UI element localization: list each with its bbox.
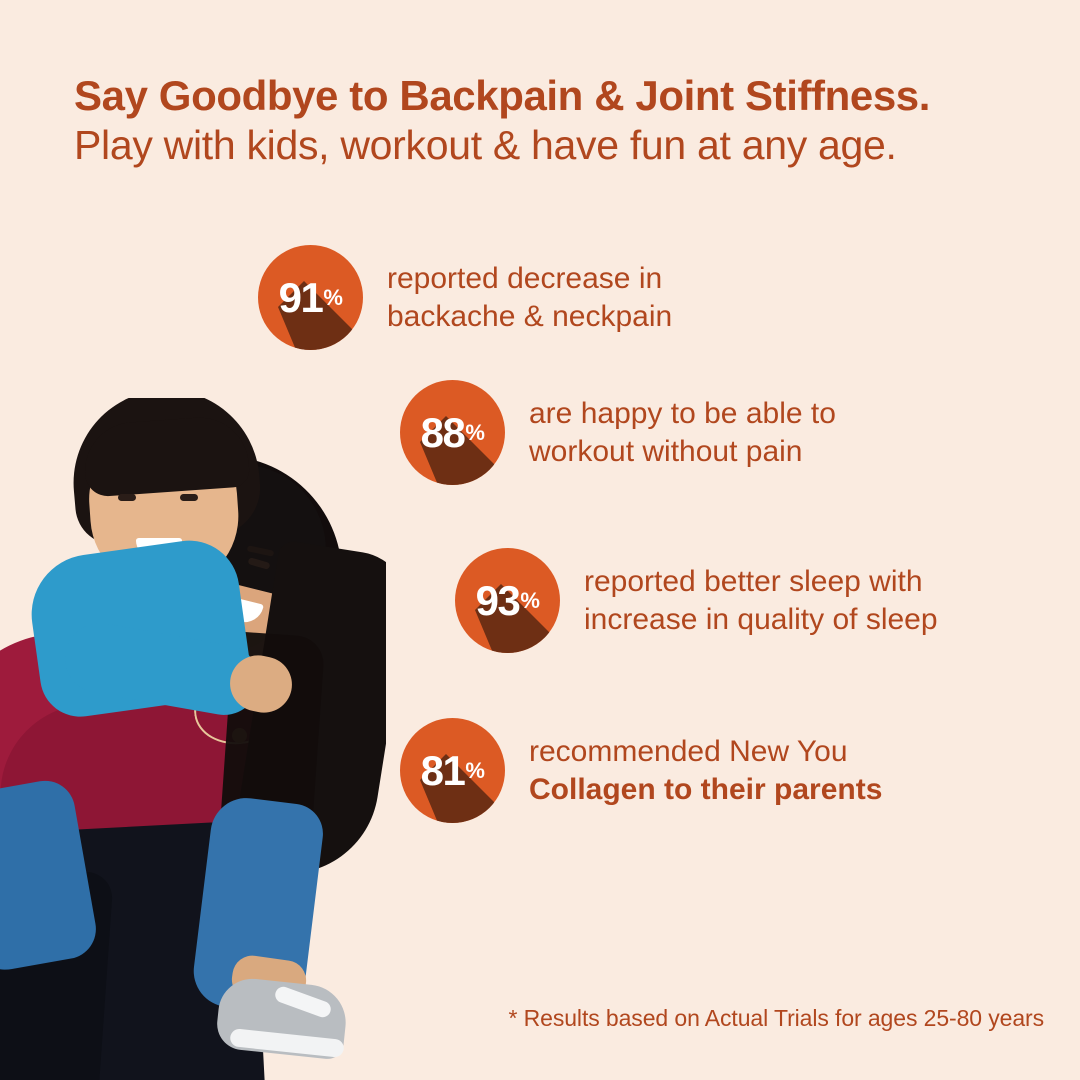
child-eye-right bbox=[180, 494, 198, 501]
stat-text-1: reported decrease in backache & neckpain bbox=[387, 260, 672, 334]
stat-value-2: 88% bbox=[400, 380, 505, 485]
headline-line-2: Play with kids, workout & have fun at an… bbox=[74, 121, 1034, 169]
percent-sign: % bbox=[465, 760, 484, 782]
stat-badge-1: 91% bbox=[258, 245, 363, 350]
stat-row-2: 88% are happy to be able to workout with… bbox=[400, 380, 836, 485]
stat-line-2: backache & neckpain bbox=[387, 298, 672, 335]
headline-block: Say Goodbye to Backpain & Joint Stiffnes… bbox=[74, 72, 1034, 169]
stat-line-1: reported better sleep with bbox=[584, 563, 938, 600]
stat-text-2: are happy to be able to workout without … bbox=[529, 395, 836, 469]
stat-number: 91 bbox=[279, 277, 323, 319]
stat-number: 81 bbox=[421, 750, 465, 792]
stat-line-2: Collagen to their parents bbox=[529, 771, 882, 808]
stat-line-2: increase in quality of sleep bbox=[584, 601, 938, 638]
stat-number: 93 bbox=[476, 580, 520, 622]
stat-text-4: recommended New You Collagen to their pa… bbox=[529, 733, 882, 807]
percent-sign: % bbox=[520, 590, 539, 612]
stat-number: 88 bbox=[421, 412, 465, 454]
headline-line-1: Say Goodbye to Backpain & Joint Stiffnes… bbox=[74, 72, 1034, 119]
stat-line-1: are happy to be able to bbox=[529, 395, 836, 432]
stat-value-1: 91% bbox=[258, 245, 363, 350]
infographic-canvas: Say Goodbye to Backpain & Joint Stiffnes… bbox=[0, 0, 1080, 1080]
stat-row-3: 93% reported better sleep with increase … bbox=[455, 548, 938, 653]
stat-line-1: recommended New You bbox=[529, 733, 882, 770]
percent-sign: % bbox=[323, 287, 342, 309]
stat-line-2: workout without pain bbox=[529, 433, 836, 470]
stat-value-4: 81% bbox=[400, 718, 505, 823]
stat-badge-2: 88% bbox=[400, 380, 505, 485]
lifestyle-photo bbox=[0, 398, 386, 1080]
stat-row-4: 81% recommended New You Collagen to thei… bbox=[400, 718, 882, 823]
stat-value-3: 93% bbox=[455, 548, 560, 653]
stat-text-3: reported better sleep with increase in q… bbox=[584, 563, 938, 637]
footnote-disclaimer: * Results based on Actual Trials for age… bbox=[509, 1005, 1045, 1032]
stat-line-1: reported decrease in bbox=[387, 260, 672, 297]
stat-row-1: 91% reported decrease in backache & neck… bbox=[258, 245, 672, 350]
stat-badge-3: 93% bbox=[455, 548, 560, 653]
percent-sign: % bbox=[465, 422, 484, 444]
stat-badge-4: 81% bbox=[400, 718, 505, 823]
child-eye-left bbox=[118, 494, 136, 501]
